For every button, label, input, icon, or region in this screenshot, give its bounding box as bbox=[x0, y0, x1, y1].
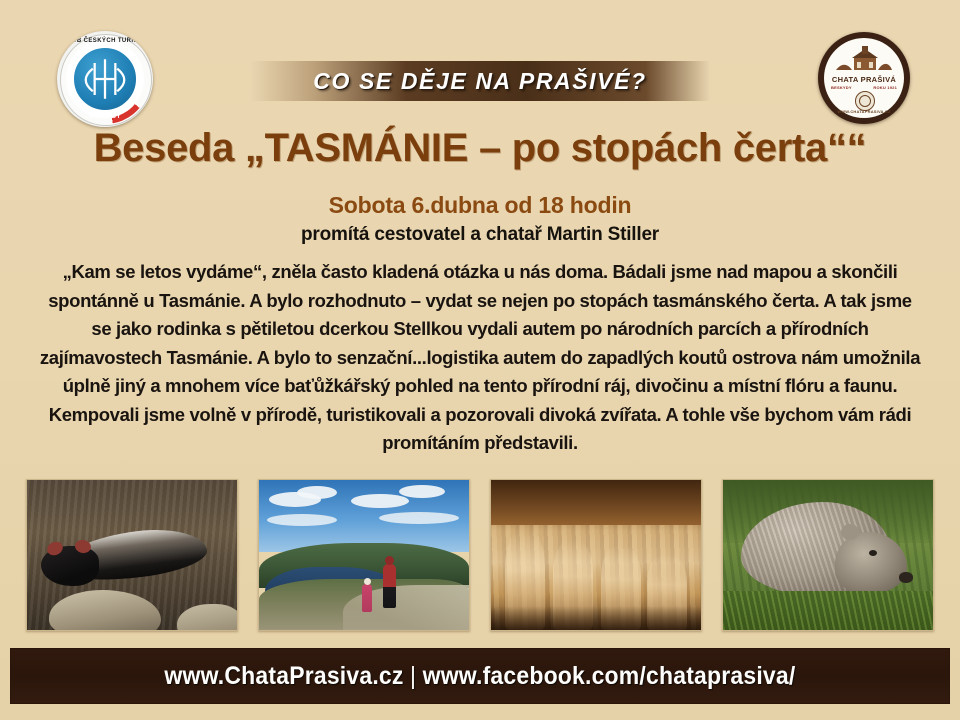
event-description: „Kam se letos vydáme“, zněla často klade… bbox=[36, 258, 924, 458]
photo-strip bbox=[26, 479, 934, 631]
banner-label: CO SE DĚJE NA PRAŠIVÉ? bbox=[313, 68, 646, 95]
photo-painted-cliffs bbox=[490, 479, 702, 631]
poster: KLUB ČESKÝCH TURISTŮ BESKYDY CO SE DĚJE … bbox=[0, 0, 960, 720]
wombat-nose bbox=[899, 572, 913, 583]
lake-hiker-child bbox=[362, 584, 372, 612]
page-title: Beseda „TASMÁNIE – po stopách čerta““ bbox=[0, 126, 960, 171]
footer-bar: www.ChataPrasiva.cz|www.facebook.com/cha… bbox=[10, 648, 950, 704]
photo-wombat bbox=[722, 479, 934, 631]
footer-separator: | bbox=[404, 662, 423, 690]
chata-logo-url: WWW.CHATAPRASIVA.CZ bbox=[824, 109, 904, 114]
mountain-cabin-icon bbox=[834, 46, 894, 72]
wombat-ear bbox=[841, 524, 859, 540]
photo-lake-hikers bbox=[258, 479, 470, 631]
lake-cloud bbox=[267, 514, 337, 526]
lake-hiker-adult bbox=[383, 564, 396, 608]
kct-beskydy-logo: KLUB ČESKÝCH TURISTŮ BESKYDY bbox=[57, 31, 153, 127]
wombat-grass-front bbox=[723, 591, 933, 630]
photo-tasmanian-devil bbox=[26, 479, 238, 631]
chata-logo-face: CHATA PRAŠIVÁ BESKYDY ROKU 1921 WWW.CHAT… bbox=[824, 38, 904, 118]
chata-prasiva-logo: CHATA PRAŠIVÁ BESKYDY ROKU 1921 WWW.CHAT… bbox=[818, 32, 910, 124]
kct-blue-disc bbox=[72, 46, 138, 112]
event-presenter: promítá cestovatel a chatař Martin Still… bbox=[0, 224, 960, 246]
facebook-link[interactable]: www.facebook.com/chataprasiva/ bbox=[423, 662, 796, 690]
lake-cloud bbox=[351, 494, 409, 508]
website-link[interactable]: www.ChataPrasiva.cz bbox=[164, 662, 403, 690]
cliff-overhang bbox=[491, 480, 701, 525]
chata-logo-name: CHATA PRAŠIVÁ bbox=[824, 75, 904, 84]
chata-logo-sub-right: ROKU 1921 bbox=[873, 85, 897, 90]
wombat-eye bbox=[869, 550, 877, 556]
lake-cloud bbox=[297, 486, 337, 499]
footer-links: www.ChataPrasiva.cz|www.facebook.com/cha… bbox=[164, 662, 795, 691]
lake-cloud bbox=[379, 512, 459, 524]
event-datetime: Sobota 6.dubna od 18 hodin bbox=[0, 192, 960, 219]
cliff-shadow bbox=[491, 606, 701, 630]
lake-cloud bbox=[399, 485, 445, 498]
kct-top-label: KLUB ČESKÝCH TURISTŮ bbox=[57, 38, 153, 44]
chata-logo-subline: BESKYDY ROKU 1921 bbox=[824, 85, 904, 90]
kct-bottom-label: BESKYDY bbox=[57, 114, 153, 120]
event-banner: CO SE DĚJE NA PRAŠIVÉ? bbox=[250, 61, 710, 101]
poster-header: KLUB ČESKÝCH TURISTŮ BESKYDY CO SE DĚJE … bbox=[0, 0, 960, 128]
chata-logo-sub-left: BESKYDY bbox=[831, 85, 852, 90]
chata-logo-seal-icon bbox=[855, 91, 875, 111]
kct-monogram-icon bbox=[74, 48, 136, 110]
